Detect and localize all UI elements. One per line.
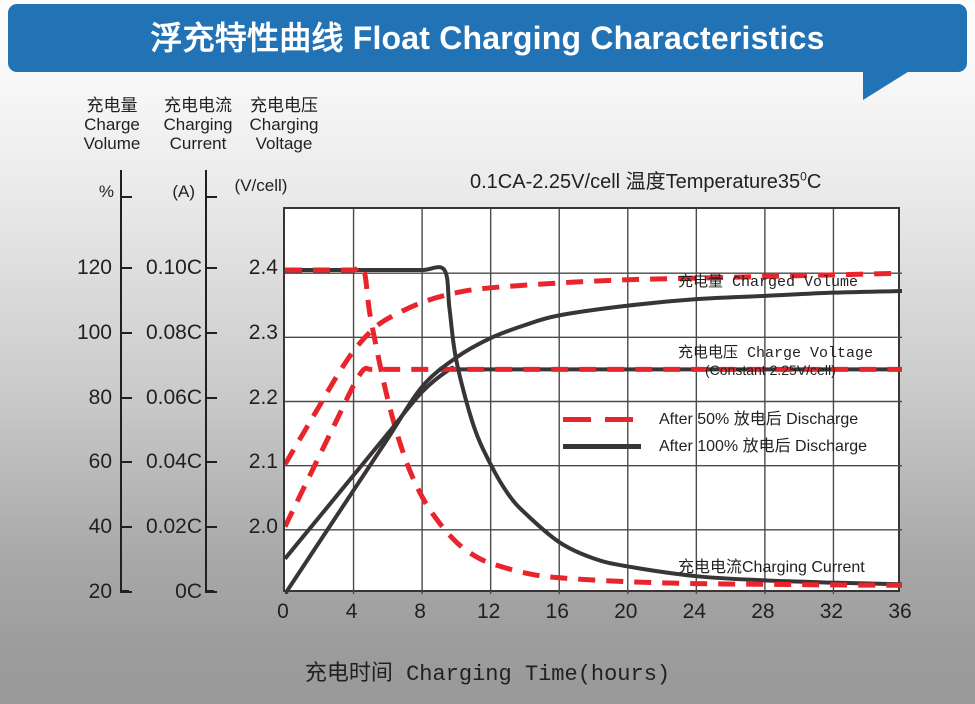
axis-header-charging-current-cn: 充电电流 [148, 96, 248, 115]
tick-label-charging-voltage-4: 2.0 [218, 516, 278, 538]
tick-label-charging-current-4: 0.02C [126, 516, 202, 538]
unit-charge-volume: % [62, 182, 114, 202]
unit-charging-current: (A) [140, 182, 195, 202]
x-tick-label-28: 28 [741, 600, 785, 624]
tick-charging-current-5 [205, 591, 217, 593]
tick-label-charge-volume-0: 120 [50, 257, 112, 279]
x-tick-label-32: 32 [809, 600, 853, 624]
tick-label-charging-voltage-2: 2.2 [218, 387, 278, 409]
tick-label-charge-volume-2: 80 [50, 387, 112, 409]
label-charging-current: 充电电流Charging Current [678, 553, 865, 577]
label-charge-voltage: 充电电压 Charge Voltage [678, 341, 873, 362]
axis-header-charging-current: 充电电流 Charging Current [148, 96, 248, 153]
page-title: 浮充特性曲线 Float Charging Characteristics [8, 4, 967, 72]
tick-charging-current-3 [205, 461, 217, 463]
legend-label-after-100: After 100% 放电后 Discharge [659, 433, 867, 460]
title-banner: 浮充特性曲线 Float Charging Characteristics [8, 4, 967, 72]
x-tick-label-36: 36 [878, 600, 922, 624]
x-tick-label-4: 4 [330, 600, 374, 624]
tick-charging-current-2 [205, 397, 217, 399]
tick-charging-current-1 [205, 332, 217, 334]
legend-swatch-solid-black-icon [563, 444, 641, 449]
tick-label-charging-current-3: 0.04C [126, 451, 202, 473]
x-tick-label-8: 8 [398, 600, 442, 624]
gridlines [285, 209, 902, 594]
tick-label-charge-volume-4: 40 [50, 516, 112, 538]
legend-swatch-dashed-red-icon [563, 417, 641, 422]
tick-label-charge-volume-1: 100 [50, 322, 112, 344]
tick-label-charging-current-5: 0C [126, 581, 202, 603]
tick-label-charging-current-2: 0.06C [126, 387, 202, 409]
axis-header-charging-voltage: 充电电压 Charging Voltage [234, 96, 334, 153]
axis-header-charge-volume: 充电量 Charge Volume [62, 96, 162, 153]
tick-charging-current-4 [205, 526, 217, 528]
condition-annotation-main: 0.1CA-2.25V/cell 温度Temperature35 [470, 171, 800, 193]
tick-charging-current-top [205, 196, 217, 198]
legend-item-after-100: After 100% 放电后 Discharge [563, 433, 893, 460]
condition-annotation-unit: C [807, 171, 821, 193]
tick-label-charging-current-1: 0.08C [126, 322, 202, 344]
axis-header-charging-voltage-cn: 充电电压 [234, 96, 334, 115]
x-tick-label-12: 12 [467, 600, 511, 624]
tick-label-charging-voltage-1: 2.3 [218, 322, 278, 344]
tick-charging-current-0 [205, 267, 217, 269]
axis-header-charge-volume-en1: Charge [62, 115, 162, 134]
banner-tail-shape [863, 70, 911, 100]
axis-header-charging-voltage-en1: Charging [234, 115, 334, 134]
x-tick-label-24: 24 [672, 600, 716, 624]
label-charge-voltage-constant: (Constant 2.25V/cell) [705, 362, 836, 378]
axis-header-charging-current-en1: Charging [148, 115, 248, 134]
axis-rule-charging-current [205, 170, 207, 592]
label-charged-volume: 充电量 Charged Volume [678, 270, 858, 291]
degree-symbol: 0 [800, 169, 807, 183]
x-axis-title: 充电时间 Charging Time(hours) [0, 655, 975, 687]
axis-header-charge-volume-en2: Volume [62, 134, 162, 153]
tick-label-charge-volume-5: 20 [50, 581, 112, 603]
axis-header-charging-voltage-en2: Voltage [234, 134, 334, 153]
unit-charging-voltage: (V/cell) [224, 176, 298, 196]
axis-rule-charge-volume [120, 170, 122, 592]
x-tick-label-16: 16 [535, 600, 579, 624]
tick-label-charge-volume-3: 60 [50, 451, 112, 473]
plot-area [283, 207, 900, 592]
chart-page: 浮充特性曲线 Float Charging Characteristics 充电… [0, 0, 975, 704]
axis-header-charge-volume-cn: 充电量 [62, 96, 162, 115]
legend-item-after-50: After 50% 放电后 Discharge [563, 406, 893, 433]
tick-label-charging-voltage-3: 2.1 [218, 451, 278, 473]
axis-header-charging-current-en2: Current [148, 134, 248, 153]
legend-label-after-50: After 50% 放电后 Discharge [659, 406, 858, 433]
condition-annotation: 0.1CA-2.25V/cell 温度Temperature350C [470, 165, 821, 194]
tick-label-charging-current-0: 0.10C [126, 257, 202, 279]
tick-label-charging-voltage-0: 2.4 [218, 257, 278, 279]
chart-legend: After 50% 放电后 Discharge After 100% 放电后 D… [563, 406, 893, 460]
tick-charge-volume-top [120, 196, 132, 198]
chart-canvas [285, 209, 902, 594]
x-tick-label-20: 20 [604, 600, 648, 624]
x-tick-label-0: 0 [261, 600, 305, 624]
